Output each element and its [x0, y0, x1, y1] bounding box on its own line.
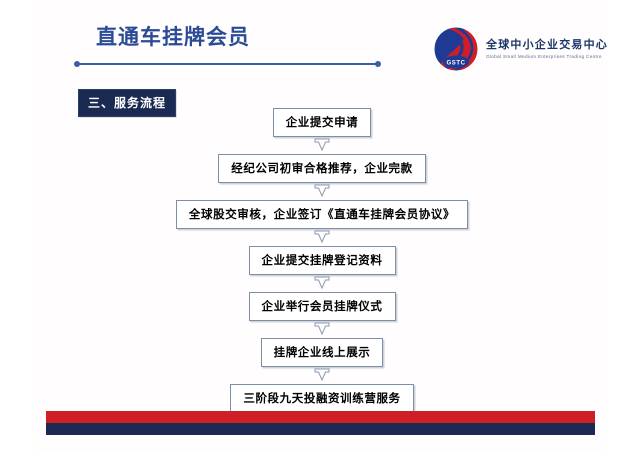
page-title: 直通车挂牌会员 — [96, 21, 250, 51]
flow-step-1: 企业提交申请 — [273, 108, 372, 137]
flow-step-7: 三阶段九天投融资训练营服务 — [230, 384, 413, 413]
flow-row: 全球股交审核，企业签订《直通车挂牌会员协议》 — [0, 200, 640, 229]
flow-row: 企业提交申请 — [0, 108, 640, 137]
flow-step-3: 全球股交审核，企业签订《直通车挂牌会员协议》 — [176, 200, 468, 229]
flow-arrow-down-icon — [0, 367, 640, 384]
flow-step-2: 经纪公司初审合格推荐，企业完款 — [218, 154, 426, 183]
flow-step-6: 挂牌企业线上展示 — [261, 338, 384, 367]
flow-arrow-down-icon — [0, 137, 640, 154]
footer-bar-navy — [46, 423, 595, 435]
globe-logo-icon: GSTC — [432, 25, 480, 73]
flow-step-5: 企业举行会员挂牌仪式 — [249, 292, 396, 321]
flow-row: 挂牌企业线上展示 — [0, 338, 640, 367]
flow-step-4: 企业提交挂牌登记资料 — [249, 246, 396, 275]
footer-bar-red — [46, 411, 595, 423]
flow-row: 企业提交挂牌登记资料 — [0, 246, 640, 275]
rule-dot-left — [74, 61, 80, 67]
brand-logo: GSTC 全球中小企业交易中心 Global Small Medium Ente… — [432, 25, 608, 73]
svg-text:GSTC: GSTC — [446, 61, 465, 67]
brand-name-cn: 全球中小企业交易中心 — [486, 39, 608, 52]
footer-bars — [46, 411, 595, 435]
slide-canvas-root: 直通车挂牌会员 GSTC — [0, 0, 640, 452]
flow-row: 三阶段九天投融资训练营服务 — [0, 384, 640, 413]
flow-arrow-down-icon — [0, 183, 640, 200]
flow-row: 企业举行会员挂牌仪式 — [0, 292, 640, 321]
flow-arrow-down-icon — [0, 321, 640, 338]
flow-row: 经纪公司初审合格推荐，企业完款 — [0, 154, 640, 183]
flow-arrow-down-icon — [0, 229, 640, 246]
brand-text-block: 全球中小企业交易中心 Global Small Medium Enterpris… — [486, 39, 608, 59]
title-underline-rule — [77, 63, 378, 65]
brand-name-en: Global Small Medium Enterprises Trading … — [486, 54, 608, 59]
service-process-flowchart: 企业提交申请 经纪公司初审合格推荐，企业完款 全球股交审核，企业签订《直通车挂牌… — [0, 108, 640, 413]
rule-dot-right — [375, 61, 381, 67]
flow-arrow-down-icon — [0, 275, 640, 292]
